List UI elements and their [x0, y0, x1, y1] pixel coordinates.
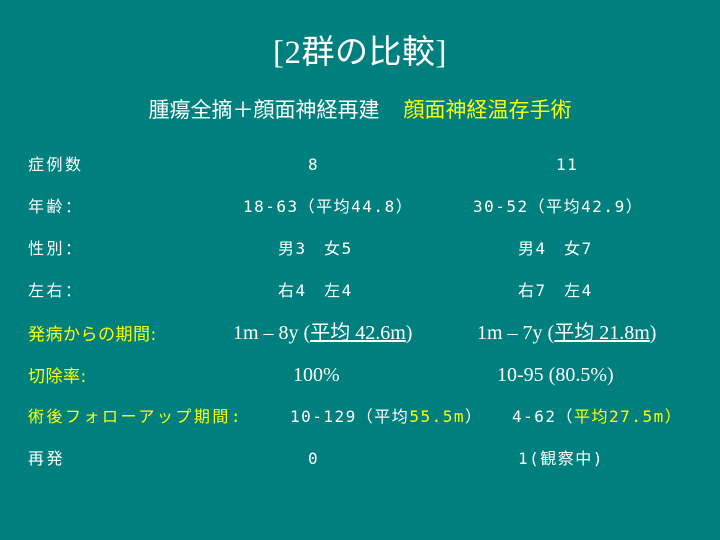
duration-b-mean: 平均 21.8m — [554, 322, 650, 344]
column-headers: 腫瘍全摘＋顔面神経再建顔面神経温存手術 — [0, 97, 720, 123]
table-row: 症例数 8 11 — [0, 150, 720, 192]
table-row: 再発 0 1(観察中) — [0, 444, 720, 486]
row-label-case-count: 症例数 — [28, 150, 84, 180]
row-value-b-age: 30-52（平均42.9） — [473, 192, 643, 222]
duration-a-suffix: ) — [406, 322, 413, 344]
row-label-resection-rate: 切除率: — [28, 362, 87, 392]
table-row: 年齢： 18-63（平均44.8） 30-52（平均42.9） — [0, 192, 720, 234]
duration-a-mean: 平均 42.6m — [310, 322, 406, 344]
row-value-a-duration-from-onset: 1m – 8y (平均 42.6m) — [233, 318, 412, 348]
row-value-a-case-count: 8 — [308, 150, 319, 180]
row-label-age: 年齢： — [28, 192, 84, 222]
duration-b-suffix: ) — [650, 322, 657, 344]
followup-a-mean: 55.5m — [409, 407, 465, 426]
row-value-a-postop-followup: 10-129（平均55.5m） — [290, 402, 483, 432]
slide-canvas: [2群の比較] 腫瘍全摘＋顔面神経再建顔面神経温存手術 症例数 8 11 年齢：… — [0, 0, 720, 540]
row-label-postop-followup: 術後フォローアップ期間: — [28, 402, 243, 432]
column-header-group-b: 顔面神経温存手術 — [404, 98, 572, 122]
followup-b-prefix: 4-62（ — [512, 407, 574, 426]
row-label-duration-from-onset: 発病からの期間: — [28, 320, 157, 350]
row-value-a-resection-rate: 100% — [293, 360, 340, 390]
row-value-b-resection-rate: 10-95 (80.5%) — [497, 360, 614, 390]
row-value-a-age: 18-63（平均44.8） — [243, 192, 413, 222]
row-value-b-duration-from-onset: 1m – 7y (平均 21.8m) — [477, 318, 656, 348]
followup-b-mean: 平均27.5m） — [574, 407, 682, 426]
row-label-side: 左右： — [28, 276, 84, 306]
slide-title: [2群の比較] — [0, 34, 720, 72]
followup-a-suffix: ） — [465, 407, 483, 426]
table-row: 術後フォローアップ期間: 10-129（平均55.5m） 4-62（平均27.5… — [0, 402, 720, 444]
row-value-b-case-count: 11 — [556, 150, 578, 180]
row-value-a-recurrence: 0 — [308, 444, 319, 474]
row-value-b-recurrence: 1(観察中) — [518, 444, 604, 474]
table-row: 発病からの期間: 1m – 8y (平均 42.6m) 1m – 7y (平均 … — [0, 318, 720, 360]
row-value-a-side: 右4 左4 — [278, 276, 353, 306]
row-label-sex: 性別： — [28, 234, 84, 264]
row-value-a-sex: 男3 女5 — [278, 234, 353, 264]
table-row: 左右： 右4 左4 右7 左4 — [0, 276, 720, 318]
column-header-group-a: 腫瘍全摘＋顔面神経再建 — [149, 98, 380, 122]
comparison-table: 症例数 8 11 年齢： 18-63（平均44.8） 30-52（平均42.9）… — [0, 150, 720, 486]
followup-a-prefix: 10-129（平均 — [290, 407, 409, 426]
duration-a-prefix: 1m – 8y ( — [233, 322, 310, 344]
row-value-b-sex: 男4 女7 — [518, 234, 593, 264]
duration-b-prefix: 1m – 7y ( — [477, 322, 554, 344]
table-row: 性別： 男3 女5 男4 女7 — [0, 234, 720, 276]
table-row: 切除率: 100% 10-95 (80.5%) — [0, 360, 720, 402]
row-value-b-side: 右7 左4 — [518, 276, 593, 306]
row-value-b-postop-followup: 4-62（平均27.5m） — [512, 402, 682, 432]
row-label-recurrence: 再発 — [28, 444, 65, 474]
